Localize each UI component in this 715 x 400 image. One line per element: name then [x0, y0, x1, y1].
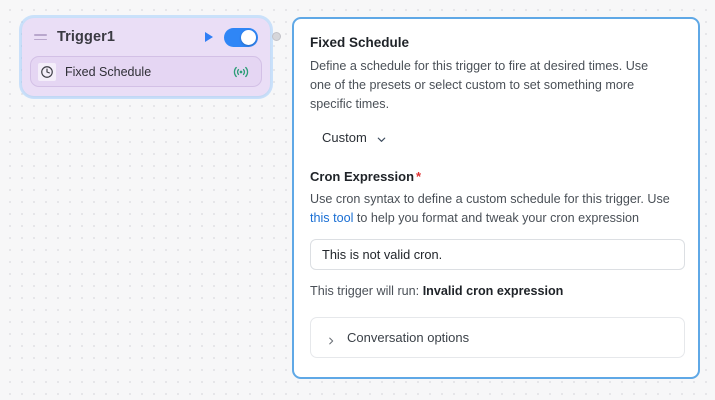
conversation-options-label: Conversation options [347, 330, 469, 345]
trigger-run-info: This trigger will run: Invalid cron expr… [310, 284, 682, 298]
trigger-subcard-fixed-schedule[interactable]: Fixed Schedule [30, 56, 262, 87]
conversation-options-accordion[interactable]: Conversation options [310, 317, 685, 358]
cron-expression-input[interactable] [310, 239, 685, 270]
chevron-right-icon [326, 333, 336, 343]
broadcast-signal-icon [231, 64, 251, 80]
workflow-canvas[interactable]: Trigger1 Fixed Schedule [0, 0, 715, 400]
schedule-preset-select[interactable]: Custom [320, 128, 389, 147]
toggle-knob [241, 30, 256, 45]
drag-handle-line [34, 39, 47, 41]
trigger-subcard-label: Fixed Schedule [65, 65, 231, 79]
trigger-node-body: Fixed Schedule [22, 56, 270, 96]
trigger-node-header: Trigger1 [22, 18, 270, 56]
chevron-down-icon [376, 132, 387, 143]
cron-help-prefix: Use cron syntax to define a custom sched… [310, 192, 670, 206]
cron-expression-label-text: Cron Expression [310, 169, 414, 184]
schedule-preset-value: Custom [322, 130, 367, 145]
drag-handle-line [34, 34, 47, 36]
trigger-node-title: Trigger1 [57, 29, 205, 45]
panel-title: Fixed Schedule [310, 35, 682, 50]
drag-handle-icon[interactable] [34, 32, 47, 42]
clock-icon [38, 63, 56, 81]
panel-description: Define a schedule for this trigger to fi… [310, 57, 672, 114]
trigger-enabled-toggle[interactable] [224, 28, 258, 47]
trigger-settings-panel: Fixed Schedule Define a schedule for thi… [292, 17, 700, 379]
cron-expression-label: Cron Expression* [310, 169, 682, 184]
cron-help-suffix: to help you format and tweak your cron e… [353, 211, 639, 225]
cron-help-link[interactable]: this tool [310, 211, 353, 225]
run-info-result: Invalid cron expression [423, 284, 564, 298]
node-output-port-icon[interactable] [272, 32, 281, 41]
required-marker: * [416, 169, 421, 184]
cron-expression-help: Use cron syntax to define a custom sched… [310, 190, 682, 228]
trigger-node-card[interactable]: Trigger1 Fixed Schedule [22, 18, 270, 96]
run-info-prefix: This trigger will run: [310, 284, 423, 298]
play-icon[interactable] [205, 32, 213, 42]
